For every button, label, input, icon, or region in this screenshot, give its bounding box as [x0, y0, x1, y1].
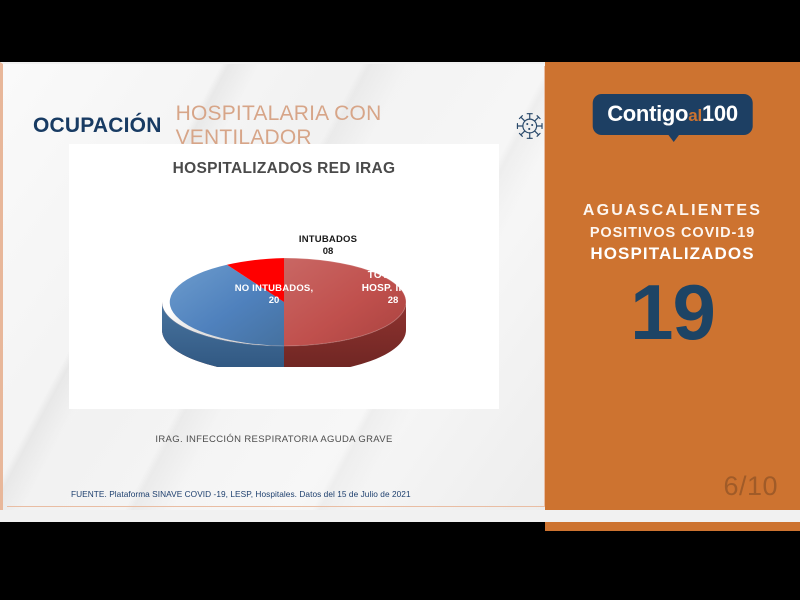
panel-bottom-strip — [545, 522, 800, 531]
pie-chart-svg — [154, 182, 414, 367]
slide-stage: OCUPACIÓN HOSPITALARIA CON VENTILADOR — [0, 0, 800, 600]
logo-text-al: al — [688, 106, 702, 126]
info-panel: Contigo al 100 AGUASCALIENTES POSITIVOS … — [545, 62, 800, 510]
chart-card: HOSPITALIZADOS RED IRAG — [69, 144, 499, 409]
bottom-gap-bar — [0, 510, 800, 522]
header-title-light: HOSPITALARIA CON VENTILADOR — [176, 102, 498, 150]
chart-note: IRAG. INFECCIÓN RESPIRATORIA AGUDA GRAVE — [3, 434, 545, 445]
logo-text-100: 100 — [702, 101, 738, 127]
contigo-al-100-logo: Contigo al 100 — [592, 94, 753, 135]
source-text: FUENTE. Plataforma SINAVE COVID -19, LES… — [71, 489, 411, 499]
slide-header: OCUPACIÓN HOSPITALARIA CON VENTILADOR — [33, 102, 545, 150]
panel-category: HOSPITALIZADOS — [545, 244, 800, 264]
header-title-bold: OCUPACIÓN — [33, 114, 162, 138]
pie-chart: INTUBADOS 08 NO INTUBADOS, 20 TOTAL DE H… — [69, 178, 499, 390]
logo-text-contigo: Contigo — [607, 101, 688, 127]
panel-subtitle: POSITIVOS COVID-19 — [545, 225, 800, 241]
panel-big-number: 19 — [545, 267, 800, 358]
virus-icon — [514, 109, 545, 143]
slide-content-area: OCUPACIÓN HOSPITALARIA CON VENTILADOR — [0, 62, 545, 511]
panel-state-name: AGUASCALIENTES — [545, 202, 800, 220]
page-counter: 6/10 — [723, 471, 778, 502]
chart-title: HOSPITALIZADOS RED IRAG — [69, 160, 499, 178]
